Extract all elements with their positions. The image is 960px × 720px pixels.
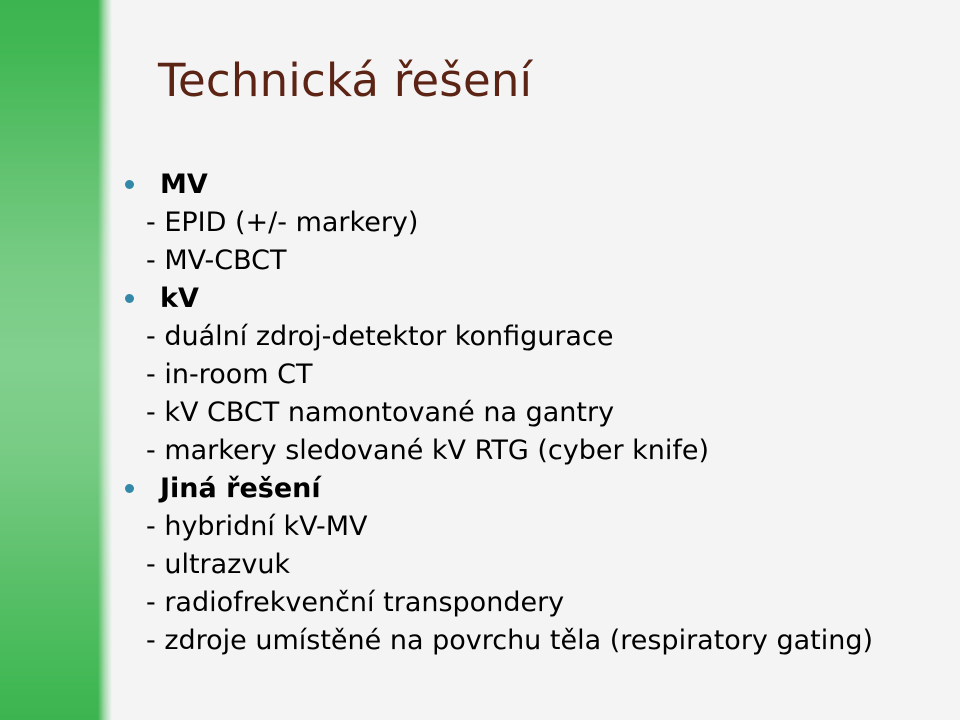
bullet-dot-icon <box>125 180 134 189</box>
accent-band-left <box>0 0 112 720</box>
bullet-item-level1: MV <box>120 166 920 204</box>
bullet-item-level2: - duální zdroj-detektor konfigurace <box>120 318 920 356</box>
bullet-item-level2: - radiofrekvenční transpondery <box>120 584 920 622</box>
accent-band-gradient <box>0 0 112 720</box>
bullet-item-label: Jiná řešení <box>160 473 321 504</box>
bullet-dot-icon <box>125 484 134 493</box>
outline-group: MV - EPID (+/- markery) - MV-CBCT <box>120 166 920 280</box>
bullet-item-level2: - kV CBCT namontované na gantry <box>120 394 920 432</box>
bullet-item-label: MV <box>160 169 208 200</box>
bullet-item-level1: kV <box>120 280 920 318</box>
bullet-item-level2: - hybridní kV-MV <box>120 508 920 546</box>
bullet-item-label: kV <box>160 283 199 314</box>
bullet-item-level2: - markery sledované kV RTG (cyber knife) <box>120 432 920 470</box>
bullet-item-level1: Jiná řešení <box>120 470 920 508</box>
bullet-dot-icon <box>125 294 134 303</box>
bullet-item-level2: - zdroje umístěné na povrchu těla (respi… <box>120 622 920 660</box>
accent-band-fade-edge <box>98 0 112 720</box>
outline-group: kV - duální zdroj-detektor konfigurace -… <box>120 280 920 470</box>
slide-body-outline: MV - EPID (+/- markery) - MV-CBCT kV - d… <box>120 166 920 660</box>
bullet-item-level2: - ultrazvuk <box>120 546 920 584</box>
slide: Technická řešení MV - EPID (+/- markery)… <box>0 0 960 720</box>
bullet-item-level2: - in-room CT <box>120 356 920 394</box>
slide-title: Technická řešení <box>158 52 532 110</box>
outline-group: Jiná řešení - hybridní kV-MV - ultrazvuk… <box>120 470 920 660</box>
bullet-item-level2: - EPID (+/- markery) <box>120 204 920 242</box>
bullet-item-level2: - MV-CBCT <box>120 242 920 280</box>
